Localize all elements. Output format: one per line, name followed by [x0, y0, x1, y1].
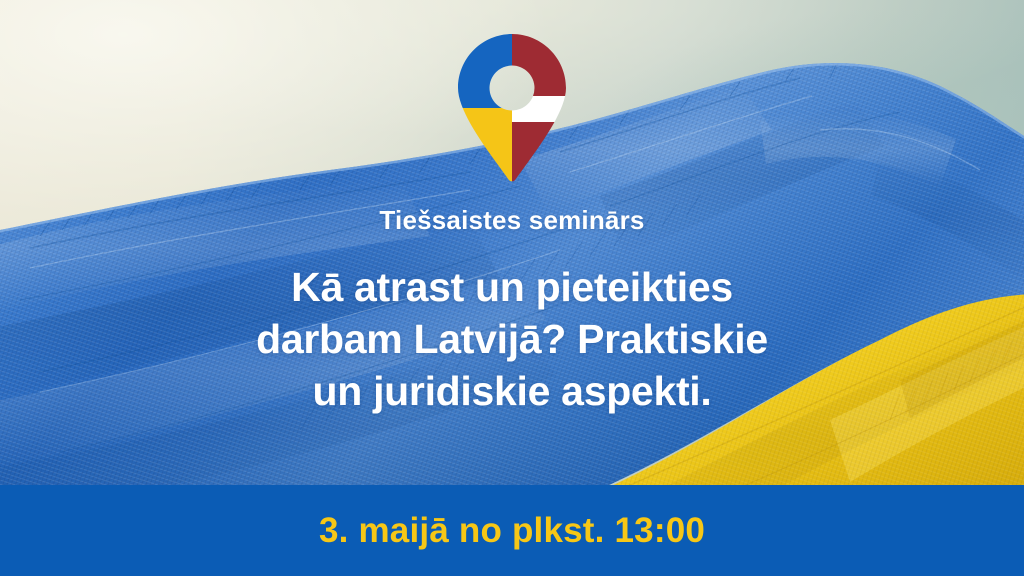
map-pin-icon — [458, 34, 566, 182]
headline-line-2: darbam Latvijā? Praktiskie — [60, 314, 964, 366]
event-datetime: 3. maijā no plkst. 13:00 — [319, 513, 705, 548]
pin-latvia-carmine-bottom — [512, 122, 566, 182]
page-title: Kā atrast un pieteikties darbam Latvijā?… — [60, 262, 964, 417]
pin-ukraine-yellow — [458, 108, 512, 182]
headline-line-3: un juridiskie aspekti. — [60, 366, 964, 418]
pin-ukraine-blue — [458, 34, 512, 108]
map-pin-logo — [458, 34, 566, 182]
promo-banner: Tiešsaistes seminārs Kā atrast un pietei… — [0, 0, 1024, 576]
headline-block: Tiešsaistes seminārs Kā atrast un pietei… — [0, 205, 1024, 417]
event-kicker: Tiešsaistes seminārs — [60, 205, 964, 236]
date-time-bar: 3. maijā no plkst. 13:00 — [0, 485, 1024, 576]
headline-line-1: Kā atrast un pieteikties — [60, 262, 964, 314]
pin-latvia-carmine-top — [512, 34, 566, 96]
pin-latvia-white — [512, 96, 566, 122]
